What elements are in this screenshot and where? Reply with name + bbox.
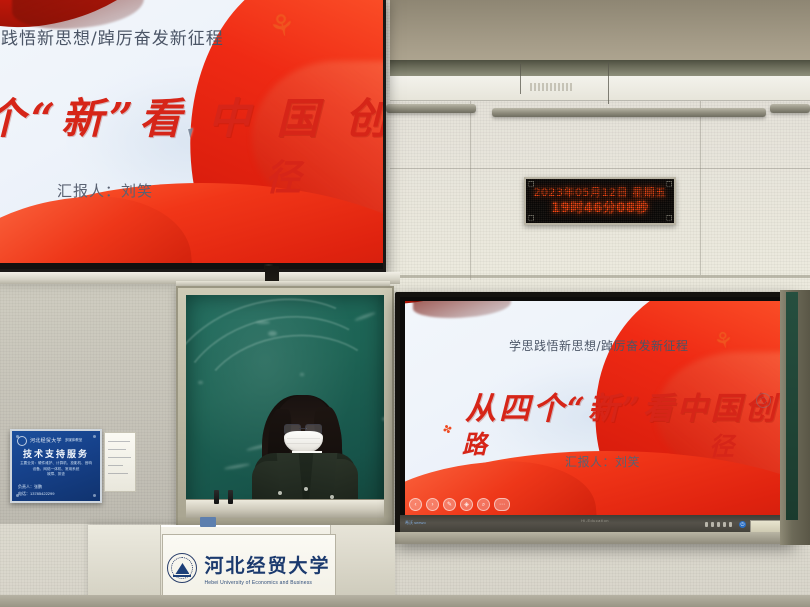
chalk-mark-2 xyxy=(256,321,270,324)
wall-seam-1 xyxy=(470,100,471,280)
sparkle-icon: ✤ xyxy=(441,422,454,437)
light-fixture-2 xyxy=(492,108,766,117)
screenshot-root: 2023年05月12日 星期五 19时46分08秒 思践悟新思想/踔厉奋发新征程… xyxy=(0,0,810,607)
jacket-button-1 xyxy=(304,487,308,491)
chalk-mark-4 xyxy=(354,311,376,321)
light-hanger-1 xyxy=(608,62,609,104)
podium-object-blue[interactable] xyxy=(200,517,216,527)
monitor-slide-title-word: 径 xyxy=(265,149,301,201)
light-fixture-1 xyxy=(386,104,476,113)
seal-mountain-shape xyxy=(175,563,189,574)
board-slide-subtitle: 学思践悟新思想/踔厉奋发新征程 xyxy=(509,337,689,354)
led-corner-tr xyxy=(666,181,672,187)
plaque-body-line-1: 主要业务：硬件维护、计算机、投影机、音响 xyxy=(17,461,95,467)
plaque-contact-name: 张鹏 xyxy=(34,484,42,489)
notice-line-1 xyxy=(108,441,130,442)
led-corner-bl xyxy=(528,215,534,221)
light-fixture-3 xyxy=(770,104,810,113)
notice-line-2 xyxy=(108,449,126,450)
zoom-icon[interactable]: ⌕ xyxy=(477,498,490,511)
control-button-3[interactable] xyxy=(717,522,720,527)
monitor-slide-subtitle: 思践悟新思想/踔厉奋发新征程 xyxy=(0,24,224,49)
monitor-slide-presenter: 汇报人：刘笑 xyxy=(57,180,153,201)
smart-board-toolbar[interactable]: ‹ › ✎ ◈ ⌕ ⋯ xyxy=(409,498,510,511)
notice-line-3 xyxy=(108,457,131,458)
university-name-cn: 河北经贸大学 xyxy=(204,551,330,578)
plaque-contact-label: 负责人： xyxy=(18,484,34,489)
plaque-header: 河北经贸大学 多媒体教室 xyxy=(17,436,95,445)
university-name-en: Hebei University of Economics and Busine… xyxy=(204,580,312,586)
ceiling-vent xyxy=(530,83,572,91)
podium-university-plate: 河北经贸大学 Hebei University of Economics and… xyxy=(162,534,336,602)
floor-strip xyxy=(0,595,810,607)
led-corner-tl xyxy=(528,181,534,187)
led-clock-sign: 2023年05月12日 星期五 19时46分08秒 xyxy=(524,177,676,225)
more-icon[interactable]: ⋯ xyxy=(494,498,510,511)
slide-canvas-monitor: 思践悟新思想/踔厉奋发新征程 ⚘ 个“新”看 中 国 创 新 径 汇报人：刘笑 xyxy=(0,0,383,263)
marker-2[interactable] xyxy=(228,490,233,504)
watermark-ring-icon xyxy=(756,393,771,408)
smart-board[interactable]: 学思践悟新思想/踔厉奋发新征程 ⚘ 从四个“新”看中国创新 路 径 ✤ 汇报人：… xyxy=(395,292,795,542)
seal-base-bar xyxy=(173,575,191,577)
board-slide-presenter: 汇报人：刘笑 xyxy=(565,453,640,470)
smart-board-side-logo: 希沃 seewo xyxy=(405,520,426,526)
smart-board-brand: Hi-Education xyxy=(581,518,609,523)
forward-icon[interactable]: › xyxy=(426,498,439,511)
notice-line-4 xyxy=(108,465,123,466)
university-seal-icon xyxy=(167,553,197,583)
control-button-2[interactable] xyxy=(711,522,714,527)
ribbon-shadow-board xyxy=(413,301,512,318)
led-corner-br xyxy=(666,215,672,221)
technical-support-plaque: 河北经贸大学 多媒体教室 技术支持服务 主要业务：硬件维护、计算机、投影机、音响… xyxy=(10,429,102,503)
control-button-5[interactable] xyxy=(729,522,732,527)
plaque-screw-bl xyxy=(16,494,19,497)
marker-1[interactable] xyxy=(214,490,219,504)
plaque-screw-tr xyxy=(93,435,96,438)
plaque-footer: 负责人：张鹏 电话：13785422299 xyxy=(18,484,95,497)
plaque-screw-br xyxy=(93,494,96,497)
power-icon[interactable]: ⏻ xyxy=(739,521,746,528)
plaque-screw-tl xyxy=(16,435,19,438)
chalk-mark-3 xyxy=(300,373,304,376)
notice-line-5 xyxy=(108,473,128,474)
led-time-text: 19时46分08秒 xyxy=(551,200,649,217)
back-icon[interactable]: ‹ xyxy=(409,498,422,511)
mask-fold-2 xyxy=(287,443,320,444)
wall-seam-2 xyxy=(700,100,701,275)
plaque-phone: 13785422299 xyxy=(30,491,54,496)
smart-board-screen[interactable]: 学思践悟新思想/踔厉奋发新征程 ⚘ 从四个“新”看中国创新 路 径 ✤ 汇报人：… xyxy=(405,301,785,515)
led-date-text: 2023年05月12日 星期五 xyxy=(534,185,667,200)
wall-notice-sheet xyxy=(104,432,136,492)
pen-icon[interactable]: ✎ xyxy=(443,498,456,511)
chalk-mark-5 xyxy=(198,381,203,384)
monitor-screen: 思践悟新思想/踔厉奋发新征程 ⚘ 个“新”看 中 国 创 新 径 汇报人：刘笑 xyxy=(0,0,383,263)
board-slide-title-word-right: 径 xyxy=(709,427,734,463)
chalk-mark-8 xyxy=(382,417,384,421)
ceiling-soffit xyxy=(390,76,810,101)
plaque-body: 主要业务：硬件维护、计算机、投影机、音响 设备、网络一体机、常用系统 故障、排查 xyxy=(17,461,95,478)
wall-monitor-top-left[interactable]: 思践悟新思想/踔厉奋发新征程 ⚘ 个“新”看 中 国 创 新 径 汇报人：刘笑 xyxy=(0,0,386,272)
university-name-block: 河北经贸大学 Hebei University of Economics and… xyxy=(204,551,330,586)
plaque-title: 技术支持服务 xyxy=(12,447,100,460)
plaque-university: 河北经贸大学 xyxy=(30,437,62,444)
light-hanger-2 xyxy=(520,64,521,94)
plaque-phone-label: 电话： xyxy=(18,491,30,496)
chalkboard-edge-right xyxy=(786,292,798,520)
plaque-phone-row: 电话：13785422299 xyxy=(18,491,95,498)
mask-fold-1 xyxy=(287,438,320,439)
slide-canvas-board: 学思践悟新思想/踔厉奋发新征程 ⚘ 从四个“新”看中国创新 路 径 ✤ 汇报人：… xyxy=(405,301,785,515)
chalk-mark-1 xyxy=(268,331,277,336)
wall-ledge-line xyxy=(390,275,810,278)
ceiling-beam xyxy=(390,60,810,76)
smart-board-controls[interactable] xyxy=(705,522,732,527)
chalkboard-frame xyxy=(176,286,394,540)
control-button-4[interactable] xyxy=(723,522,726,527)
plaque-department: 多媒体教室 xyxy=(65,438,83,443)
smart-board-cabinet xyxy=(395,532,785,544)
eraser-icon[interactable]: ◈ xyxy=(460,498,473,511)
chalkboard-surface xyxy=(186,295,384,518)
plaque-body-line-3: 故障、排查 xyxy=(17,472,95,478)
board-slide-title-word-left: 路 xyxy=(462,425,487,461)
control-button-1[interactable] xyxy=(705,522,708,527)
wall-seam-3 xyxy=(390,168,810,169)
jacket-button-3 xyxy=(278,491,282,495)
board-slide-title: 从四个“新”看中国创新 xyxy=(465,383,785,428)
